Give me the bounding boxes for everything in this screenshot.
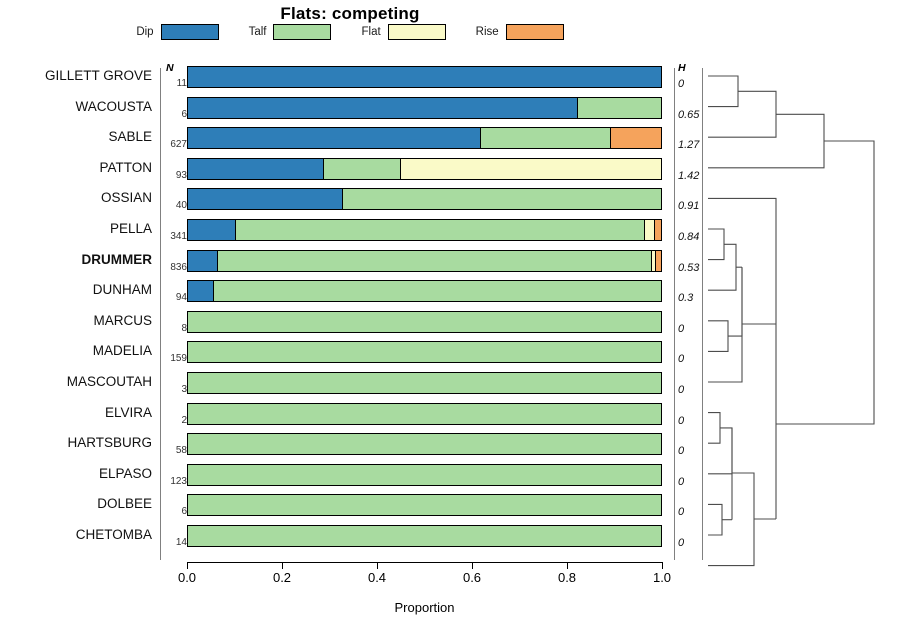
row-n-value: 6 [163, 506, 187, 517]
row-n-value: 14 [163, 537, 187, 548]
x-axis-title: Proportion [187, 600, 662, 615]
row-label: MADELIA [0, 343, 152, 358]
dendrogram [702, 64, 900, 584]
bar-segment-talf[interactable] [235, 220, 644, 240]
row-label: MASCOUTAH [0, 374, 152, 389]
bar-segment-talf[interactable] [188, 312, 661, 332]
row-h-value: 0.91 [678, 200, 699, 212]
row-h-value: 0 [678, 415, 684, 427]
legend-label: Flat [361, 26, 380, 38]
bar-segment-talf[interactable] [213, 281, 661, 301]
stacked-bar[interactable] [187, 403, 662, 425]
bar-segment-rise[interactable] [654, 220, 661, 240]
bar-segment-dip[interactable] [188, 128, 480, 148]
row-n-value: 8 [163, 323, 187, 334]
row-n-value: 2 [163, 415, 187, 426]
row-n-value: 627 [163, 139, 187, 150]
x-axis-line [187, 562, 662, 563]
legend-swatch-talf [273, 24, 331, 40]
row-h-value: 0.53 [678, 262, 699, 274]
row-label: OSSIAN [0, 190, 152, 205]
row-label: PELLA [0, 221, 152, 236]
stacked-bar[interactable] [187, 66, 662, 88]
bar-segment-talf[interactable] [188, 342, 661, 362]
row-label: ELPASO [0, 466, 152, 481]
x-axis-tick-label: 0.0 [178, 570, 196, 585]
row-h-value: 0 [678, 78, 684, 90]
x-axis-tick [567, 562, 568, 569]
x-axis-tick-label: 0.2 [273, 570, 291, 585]
row-h-value: 0 [678, 445, 684, 457]
legend-swatch-flat [388, 24, 446, 40]
x-axis-tick [282, 562, 283, 569]
row-n-value: 6 [163, 109, 187, 120]
bar-segment-dip[interactable] [188, 189, 342, 209]
row-label: SABLE [0, 129, 152, 144]
row-h-value: 0.3 [678, 292, 693, 304]
bar-segment-talf[interactable] [480, 128, 611, 148]
row-h-value: 0.65 [678, 109, 699, 121]
x-axis-tick-label: 0.6 [463, 570, 481, 585]
bar-segment-talf[interactable] [342, 189, 661, 209]
row-n-value: 58 [163, 445, 187, 456]
row-label: ELVIRA [0, 405, 152, 420]
row-label: MARCUS [0, 313, 152, 328]
stacked-bar[interactable] [187, 494, 662, 516]
row-h-value: 0 [678, 537, 684, 549]
bar-segment-flat[interactable] [400, 159, 661, 179]
row-n-value: 123 [163, 476, 187, 487]
stacked-bar[interactable] [187, 250, 662, 272]
stacked-bar[interactable] [187, 372, 662, 394]
plot-area: N H GILLETT GROVE110WACOUSTA60.65SABLE62… [0, 64, 900, 640]
bar-segment-rise[interactable] [610, 128, 661, 148]
page-title: Flats: competing [0, 4, 700, 24]
row-label: DOLBEE [0, 496, 152, 511]
row-n-value: 836 [163, 262, 187, 273]
row-n-value: 159 [163, 353, 187, 364]
row-label: DRUMMER [0, 252, 152, 267]
bar-segment-talf[interactable] [217, 251, 650, 271]
stacked-bar[interactable] [187, 97, 662, 119]
legend-label: Rise [476, 26, 499, 38]
bar-segment-talf[interactable] [188, 495, 661, 515]
row-n-value: 341 [163, 231, 187, 242]
bar-segment-flat[interactable] [644, 220, 653, 240]
stacked-bar[interactable] [187, 280, 662, 302]
x-axis-tick [662, 562, 663, 569]
legend-item-talf[interactable]: Talf [249, 24, 332, 40]
row-n-value: 40 [163, 200, 187, 211]
stacked-bar[interactable] [187, 433, 662, 455]
legend-label: Dip [136, 26, 153, 38]
row-label: DUNHAM [0, 282, 152, 297]
x-axis-tick-label: 0.8 [558, 570, 576, 585]
row-h-value: 0 [678, 476, 684, 488]
stacked-bar[interactable] [187, 127, 662, 149]
chart-legend: DipTalfFlatRise [0, 24, 700, 40]
bar-segment-talf[interactable] [323, 159, 400, 179]
stacked-bar[interactable] [187, 219, 662, 241]
bar-segment-rise[interactable] [655, 251, 661, 271]
row-h-value: 1.27 [678, 139, 699, 151]
legend-swatch-rise [506, 24, 564, 40]
legend-item-flat[interactable]: Flat [361, 24, 445, 40]
x-axis-tick [187, 562, 188, 569]
stacked-bar[interactable] [187, 158, 662, 180]
bar-segment-dip[interactable] [188, 98, 577, 118]
row-n-value: 94 [163, 292, 187, 303]
bar-segment-talf[interactable] [188, 434, 661, 454]
row-label: WACOUSTA [0, 99, 152, 114]
stacked-bar[interactable] [187, 341, 662, 363]
row-n-value: 93 [163, 170, 187, 181]
bar-segment-talf[interactable] [188, 465, 661, 485]
bar-segment-dip[interactable] [188, 251, 217, 271]
row-h-value: 1.42 [678, 170, 699, 182]
stacked-bar[interactable] [187, 311, 662, 333]
legend-item-rise[interactable]: Rise [476, 24, 564, 40]
bar-segment-talf[interactable] [188, 404, 661, 424]
bar-segment-talf[interactable] [577, 98, 661, 118]
bar-segment-dip[interactable] [188, 281, 213, 301]
bar-segment-talf[interactable] [188, 373, 661, 393]
row-h-value: 0 [678, 506, 684, 518]
stacked-bar[interactable] [187, 464, 662, 486]
row-label: CHETOMBA [0, 527, 152, 542]
x-axis-tick [472, 562, 473, 569]
bar-segment-dip[interactable] [188, 67, 661, 87]
bar-segment-talf[interactable] [188, 526, 661, 546]
x-axis-tick-label: 0.4 [368, 570, 386, 585]
legend-swatch-dip [161, 24, 219, 40]
bar-segment-dip[interactable] [188, 159, 323, 179]
row-h-value: 0.84 [678, 231, 699, 243]
legend-item-dip[interactable]: Dip [136, 24, 218, 40]
row-h-value: 0 [678, 353, 684, 365]
stacked-bar[interactable] [187, 188, 662, 210]
x-axis-tick [377, 562, 378, 569]
row-n-value: 11 [163, 78, 187, 89]
x-axis-tick-label: 1.0 [653, 570, 671, 585]
row-h-value: 0 [678, 323, 684, 335]
row-label: PATTON [0, 160, 152, 175]
row-n-value: 3 [163, 384, 187, 395]
stacked-bar[interactable] [187, 525, 662, 547]
row-label: HARTSBURG [0, 435, 152, 450]
legend-label: Talf [249, 26, 267, 38]
row-label: GILLETT GROVE [0, 68, 152, 83]
bar-segment-dip[interactable] [188, 220, 235, 240]
row-h-value: 0 [678, 384, 684, 396]
